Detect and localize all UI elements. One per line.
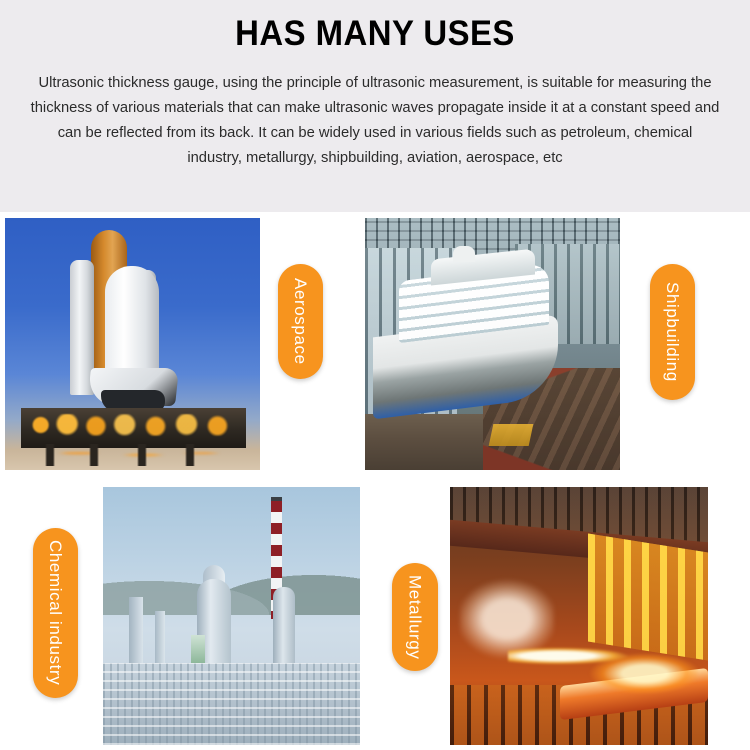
ship-funnel-shape [453,246,475,262]
tag-chemical-industry-label: Chemical industry [47,540,64,685]
platform-legs-shape [33,444,233,466]
page-title: HAS MANY USES [23,14,728,54]
tag-aerospace-label: Aerospace [292,278,309,365]
molten-sparks-glow [508,619,698,707]
metallurgy-photo [450,487,708,745]
aerospace-photo [5,218,260,470]
chemical-industry-photo [103,487,360,745]
tag-metallurgy-label: Metallurgy [407,575,424,659]
infographic-page: HAS MANY USES Ultrasonic thickness gauge… [0,0,750,750]
page-description: Ultrasonic thickness gauge, using the pr… [29,70,722,170]
shipbuilding-photo [365,218,620,470]
platform-lights-glow [23,414,244,436]
pipework-network-shape [103,663,360,745]
dock-equipment-shape [489,424,534,446]
tag-aerospace[interactable]: Aerospace [278,264,323,379]
tag-metallurgy[interactable]: Metallurgy [392,563,438,671]
tag-shipbuilding[interactable]: Shipbuilding [650,264,695,400]
tag-shipbuilding-label: Shipbuilding [664,282,681,382]
tag-chemical-industry[interactable]: Chemical industry [33,528,78,698]
